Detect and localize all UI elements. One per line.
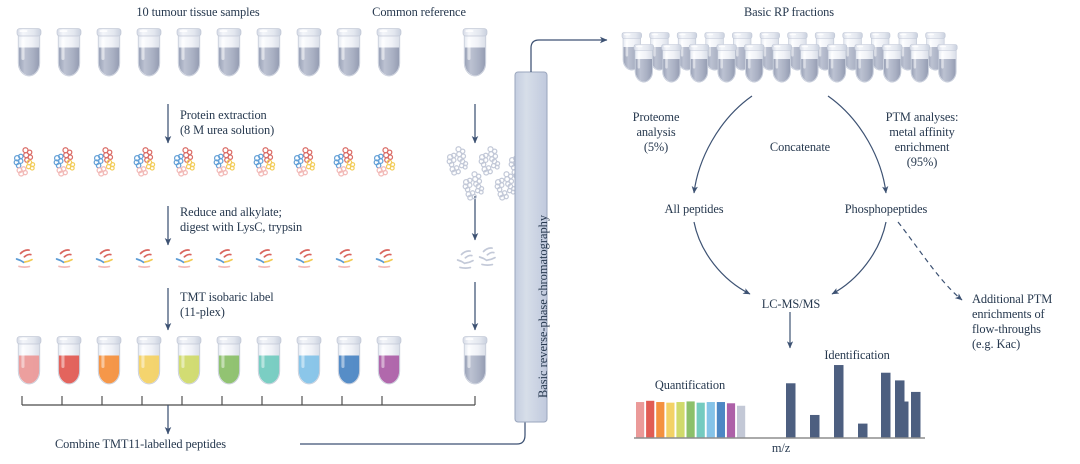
peptide-cluster-row — [17, 250, 392, 267]
reference-tube — [463, 29, 487, 76]
proteome-line2: analysis — [636, 125, 675, 139]
step3-line1: TMT isobaric label — [180, 290, 274, 304]
quantification-bar — [707, 402, 715, 438]
column-label: Basic reverse-phase chromatography — [536, 215, 551, 398]
quantification-bar — [727, 403, 735, 438]
flowthrough-line4: (e.g. Kac) — [972, 337, 1020, 351]
quantification-bar — [717, 402, 725, 438]
samples-title: 10 tumour tissue samples — [136, 5, 259, 19]
rp-fraction-tube — [662, 45, 682, 83]
tmt-labelled-tube — [297, 337, 321, 384]
tmt-labelled-tube — [17, 337, 41, 384]
rp-fraction-tube — [772, 45, 792, 83]
quantification-bar — [737, 406, 745, 438]
identification-bar — [899, 402, 909, 438]
rp-fraction-tube — [717, 45, 737, 83]
sample-tube-row — [17, 29, 401, 76]
combine-to-column-line — [300, 72, 525, 444]
proteome-line1: Proteome — [633, 110, 680, 124]
quantification-bar — [697, 403, 705, 438]
proteome-line3: (5%) — [644, 140, 668, 154]
ptm-line1: PTM analyses: — [886, 110, 959, 124]
figure-canvas: 10 tumour tissue samples Common referenc… — [0, 0, 1080, 464]
quantification-bar — [656, 402, 664, 438]
rp-fraction-tube — [744, 45, 764, 83]
step3-line2: (11-plex) — [180, 305, 225, 319]
identification-bar — [786, 383, 796, 438]
flowthrough-line3: flow-throughs — [972, 322, 1041, 336]
phosphopeptides-label: Phosphopeptides — [845, 202, 927, 216]
tmt-labelled-tube — [337, 337, 361, 384]
tmt-labelled-tube — [217, 337, 241, 384]
rp-fraction-tube — [634, 45, 654, 83]
step1-line2: (8 M urea solution) — [180, 123, 274, 137]
arrow-to-all-peptides — [694, 96, 752, 193]
mass-spectrum-plot — [634, 365, 925, 438]
identification-bar — [881, 373, 891, 438]
rp-fraction-tube — [910, 45, 930, 83]
tmt-labelled-tube — [177, 337, 201, 384]
tmt-labelled-tube — [377, 337, 401, 384]
all-peptides-to-lcms — [694, 222, 750, 294]
step1-line1: Protein extraction — [180, 108, 267, 122]
rp-fraction-tube — [689, 45, 709, 83]
rp-fraction-tube — [827, 45, 847, 83]
rp-fraction-tube — [800, 45, 820, 83]
lcmsms-label: LC-MS/MS — [762, 297, 820, 311]
identification-bar — [858, 424, 868, 438]
identification-bar — [911, 392, 921, 438]
step2-line2: digest with LysC, trypsin — [180, 220, 302, 234]
rp-fraction-tube — [938, 45, 958, 83]
ptm-line3: enrichment — [895, 140, 950, 154]
protein-cluster-row — [14, 148, 394, 176]
identification-bar — [810, 415, 820, 438]
combine-bracket — [22, 396, 475, 405]
tmt-labelled-tube-row — [17, 337, 487, 384]
column-to-fractions-arrow — [531, 40, 607, 72]
tmt-labelled-tube — [137, 337, 161, 384]
quantification-bar — [646, 401, 654, 438]
identification-label: Identification — [824, 348, 889, 362]
fractions-title: Basic RP fractions — [744, 5, 834, 19]
identification-bar — [834, 365, 844, 438]
mz-axis-label: m/z — [772, 441, 790, 455]
concatenate-label: Concatenate — [770, 140, 830, 154]
all-peptides-label: All peptides — [664, 202, 723, 216]
quantification-bar — [687, 401, 695, 438]
ptm-line4: (95%) — [907, 155, 937, 169]
phospho-to-lcms — [832, 222, 886, 294]
quantification-label: Quantification — [655, 378, 725, 392]
arrow-to-phosphopeptides — [828, 96, 886, 193]
flowthrough-line2: enrichments of — [972, 307, 1045, 321]
quantification-bar — [636, 402, 644, 438]
quantification-bar — [666, 403, 674, 438]
combine-label: Combine TMT11-labelled peptides — [55, 437, 226, 451]
rp-fraction-tube — [855, 45, 875, 83]
tmt-labelled-tube — [57, 337, 81, 384]
ptm-line2: metal affinity — [889, 125, 954, 139]
reference-peptide-cluster — [458, 248, 495, 268]
rp-fraction-tube — [882, 45, 902, 83]
reference-title: Common reference — [372, 5, 466, 19]
tmt-labelled-tube — [97, 337, 121, 384]
quantification-bar — [676, 402, 684, 438]
tmt-labelled-tube — [257, 337, 281, 384]
dashed-flowthrough-arrow — [898, 222, 962, 300]
step2-line1: Reduce and alkylate; — [180, 205, 282, 219]
flowthrough-line1: Additional PTM — [972, 292, 1052, 306]
